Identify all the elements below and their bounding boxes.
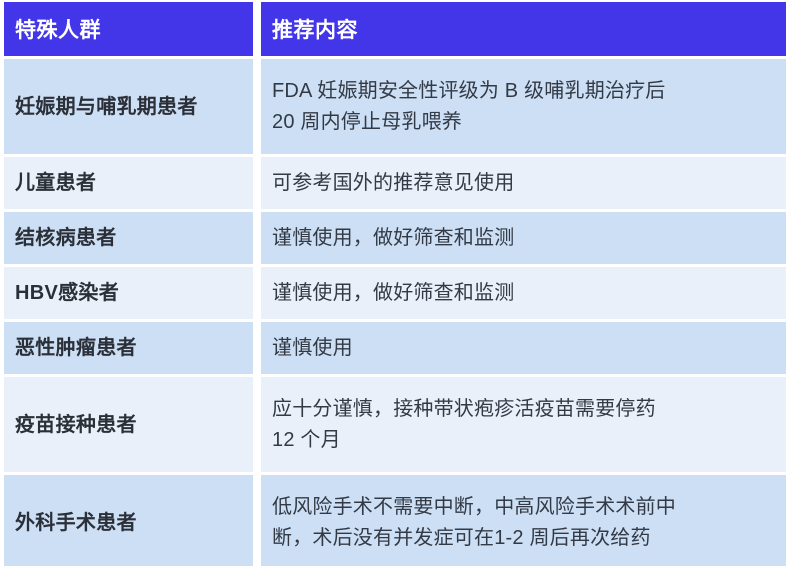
- column-divider: [253, 377, 261, 472]
- table-body: 妊娠期与哺乳期患者FDA 妊娠期安全性评级为 B 级哺乳期治疗后20 周内停止母…: [4, 56, 786, 566]
- table-row: 结核病患者谨慎使用，做好筛查和监测: [4, 212, 786, 264]
- population-group-label: 疫苗接种患者: [15, 413, 243, 437]
- population-group-cell: 恶性肿瘤患者: [4, 322, 253, 374]
- header-column-divider: [253, 2, 261, 56]
- column-header-special-population: 特殊人群: [4, 2, 253, 56]
- table-row: 妊娠期与哺乳期患者FDA 妊娠期安全性评级为 B 级哺乳期治疗后20 周内停止母…: [4, 59, 786, 154]
- table-row: 外科手术患者低风险手术不需要中断，中高风险手术术前中断，术后没有并发症可在1-2…: [4, 475, 786, 566]
- recommendation-cell: 谨慎使用: [261, 322, 786, 374]
- recommendation-cell: 谨慎使用，做好筛查和监测: [261, 267, 786, 319]
- special-population-table: 特殊人群 推荐内容 妊娠期与哺乳期患者FDA 妊娠期安全性评级为 B 级哺乳期治…: [0, 0, 792, 566]
- recommendation-cell: 可参考国外的推荐意见使用: [261, 157, 786, 209]
- recommendation-line: 低风险手术不需要中断，中高风险手术术前中: [272, 492, 776, 522]
- column-header-label: 推荐内容: [272, 14, 358, 44]
- column-divider: [253, 267, 261, 319]
- column-divider: [253, 59, 261, 154]
- population-group-label: 妊娠期与哺乳期患者: [15, 95, 243, 119]
- table-row: 疫苗接种患者应十分谨慎，接种带状疱疹活疫苗需要停药12 个月: [4, 377, 786, 472]
- column-divider: [253, 322, 261, 374]
- population-group-label: 恶性肿瘤患者: [15, 336, 243, 360]
- population-group-label: 儿童患者: [15, 171, 243, 195]
- recommendation-line: 12 个月: [272, 425, 776, 455]
- column-header-recommendation: 推荐内容: [261, 2, 786, 56]
- column-header-label: 特殊人群: [15, 14, 101, 44]
- recommendation-cell: 谨慎使用，做好筛查和监测: [261, 212, 786, 264]
- table-row: 儿童患者可参考国外的推荐意见使用: [4, 157, 786, 209]
- column-divider: [253, 212, 261, 264]
- population-group-label: 外科手术患者: [15, 511, 243, 535]
- recommendation-cell: 应十分谨慎，接种带状疱疹活疫苗需要停药12 个月: [261, 377, 786, 472]
- population-group-label: 结核病患者: [15, 226, 243, 250]
- table-row: HBV感染者谨慎使用，做好筛查和监测: [4, 267, 786, 319]
- column-divider: [253, 475, 261, 566]
- population-group-label: HBV感染者: [15, 281, 243, 305]
- population-group-cell: 妊娠期与哺乳期患者: [4, 59, 253, 154]
- recommendation-line: 断，术后没有并发症可在1-2 周后再次给药: [272, 523, 776, 553]
- population-group-cell: 外科手术患者: [4, 475, 253, 566]
- page-root: 特殊人群 推荐内容 妊娠期与哺乳期患者FDA 妊娠期安全性评级为 B 级哺乳期治…: [0, 0, 792, 566]
- recommendation-line: 谨慎使用: [272, 333, 776, 363]
- population-group-cell: 结核病患者: [4, 212, 253, 264]
- population-group-cell: HBV感染者: [4, 267, 253, 319]
- recommendation-line: 20 周内停止母乳喂养: [272, 107, 776, 137]
- recommendation-cell: 低风险手术不需要中断，中高风险手术术前中断，术后没有并发症可在1-2 周后再次给…: [261, 475, 786, 566]
- recommendation-cell: FDA 妊娠期安全性评级为 B 级哺乳期治疗后20 周内停止母乳喂养: [261, 59, 786, 154]
- table-row: 恶性肿瘤患者谨慎使用: [4, 322, 786, 374]
- population-group-cell: 疫苗接种患者: [4, 377, 253, 472]
- column-divider: [253, 157, 261, 209]
- recommendation-line: 应十分谨慎，接种带状疱疹活疫苗需要停药: [272, 394, 776, 424]
- population-group-cell: 儿童患者: [4, 157, 253, 209]
- recommendation-line: 谨慎使用，做好筛查和监测: [272, 278, 776, 308]
- recommendation-line: 谨慎使用，做好筛查和监测: [272, 223, 776, 253]
- recommendation-line: FDA 妊娠期安全性评级为 B 级哺乳期治疗后: [272, 76, 776, 106]
- table-header-row: 特殊人群 推荐内容: [4, 2, 786, 56]
- recommendation-line: 可参考国外的推荐意见使用: [272, 168, 776, 198]
